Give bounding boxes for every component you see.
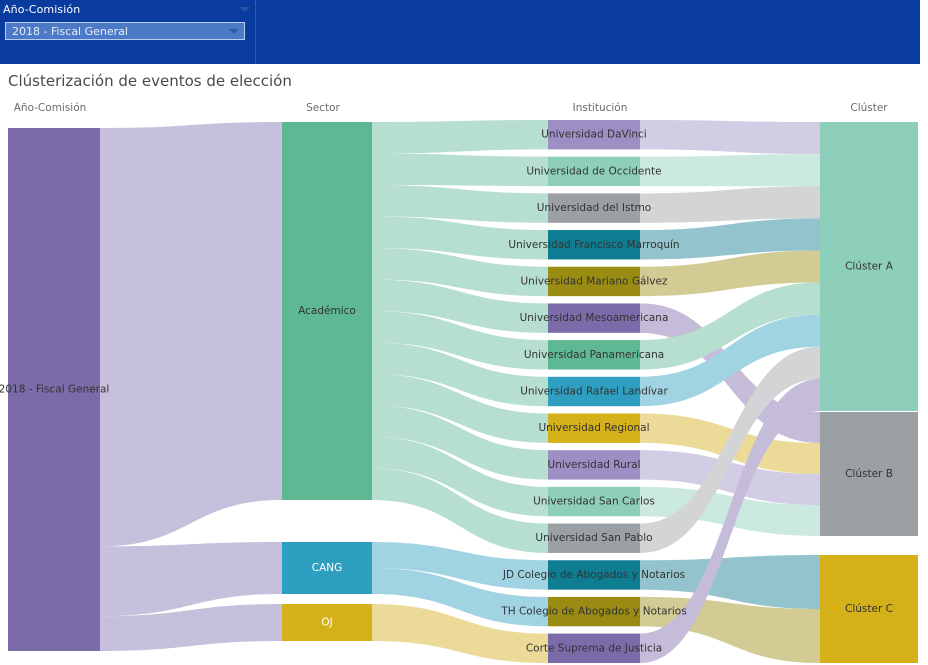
node-label-sector-cang: CANG bbox=[312, 562, 343, 574]
page-title: Clústerización de eventos de elección bbox=[8, 72, 292, 90]
link-academico-to-occidente[interactable] bbox=[372, 154, 548, 187]
filter-bar-divider bbox=[255, 0, 256, 64]
sankey-diagram: 2018 - Fiscal GeneralAcadémicoCANGOJUniv… bbox=[0, 118, 928, 665]
node-label-sector-academico: Académico bbox=[298, 305, 356, 317]
column-header-institucion: Institución bbox=[540, 102, 660, 114]
node-label-institucion-occidente: Universidad de Occidente bbox=[526, 165, 661, 177]
node-label-institucion-sanpablo: Universidad San Pablo bbox=[535, 532, 652, 544]
node-label-institucion-regional: Universidad Regional bbox=[538, 422, 649, 434]
link-2018-to-academico[interactable] bbox=[100, 122, 282, 546]
filter-label: Año-Comisión bbox=[3, 3, 80, 16]
sankey-dashboard: Año-Comisión 2018 - Fiscal General Clúst… bbox=[0, 0, 928, 665]
node-label-cluster-b: Clúster B bbox=[845, 468, 893, 480]
node-label-institucion-landivar: Universidad Rafael Landívar bbox=[520, 386, 668, 398]
node-label-cluster-a: Clúster A bbox=[845, 261, 894, 273]
node-label-institucion-davinci: Universidad DaVinci bbox=[541, 129, 646, 141]
column-header-sector: Sector bbox=[263, 102, 383, 114]
node-label-institucion-csj: Corte Suprema de Justicia bbox=[526, 642, 662, 654]
node-label-ano-comision-2018: 2018 - Fiscal General bbox=[0, 384, 109, 396]
link-academico-to-davinci[interactable] bbox=[372, 120, 548, 154]
node-label-institucion-th_cang: TH Colegio de Abogados y Notarios bbox=[500, 606, 686, 618]
column-header-ano-comision: Año-Comisión bbox=[0, 102, 110, 114]
node-label-institucion-panamericana: Universidad Panamericana bbox=[524, 349, 664, 361]
chevron-down-icon[interactable] bbox=[229, 29, 239, 34]
node-label-institucion-galvez: Universidad Mariano Gálvez bbox=[521, 275, 668, 287]
node-label-institucion-mesoamericana: Universidad Mesoamericana bbox=[520, 312, 669, 324]
ano-comision-select[interactable]: 2018 - Fiscal General bbox=[5, 22, 245, 40]
filter-header-chevron-down-icon[interactable] bbox=[240, 7, 250, 12]
ano-comision-selected-value: 2018 - Fiscal General bbox=[12, 25, 128, 38]
sankey-links-layer bbox=[100, 120, 820, 663]
link-davinci-to-a[interactable] bbox=[640, 120, 820, 154]
node-label-institucion-jd_cang: JD Colegio de Abogados y Notarios bbox=[502, 569, 685, 581]
node-label-institucion-marroquin: Universidad Francisco Marroquín bbox=[508, 239, 679, 251]
node-label-institucion-sancarlos: Universidad San Carlos bbox=[533, 496, 655, 508]
node-label-cluster-c: Clúster C bbox=[845, 603, 893, 615]
link-istmo-to-a[interactable] bbox=[640, 186, 820, 223]
filter-bar: Año-Comisión 2018 - Fiscal General bbox=[0, 0, 920, 64]
link-occidente-to-a[interactable] bbox=[640, 154, 820, 186]
node-label-institucion-rural: Universidad Rural bbox=[548, 459, 641, 471]
node-label-institucion-istmo: Universidad del Istmo bbox=[537, 202, 651, 214]
node-label-sector-oj: OJ bbox=[321, 617, 332, 629]
column-header-cluster: Clúster bbox=[809, 102, 928, 114]
